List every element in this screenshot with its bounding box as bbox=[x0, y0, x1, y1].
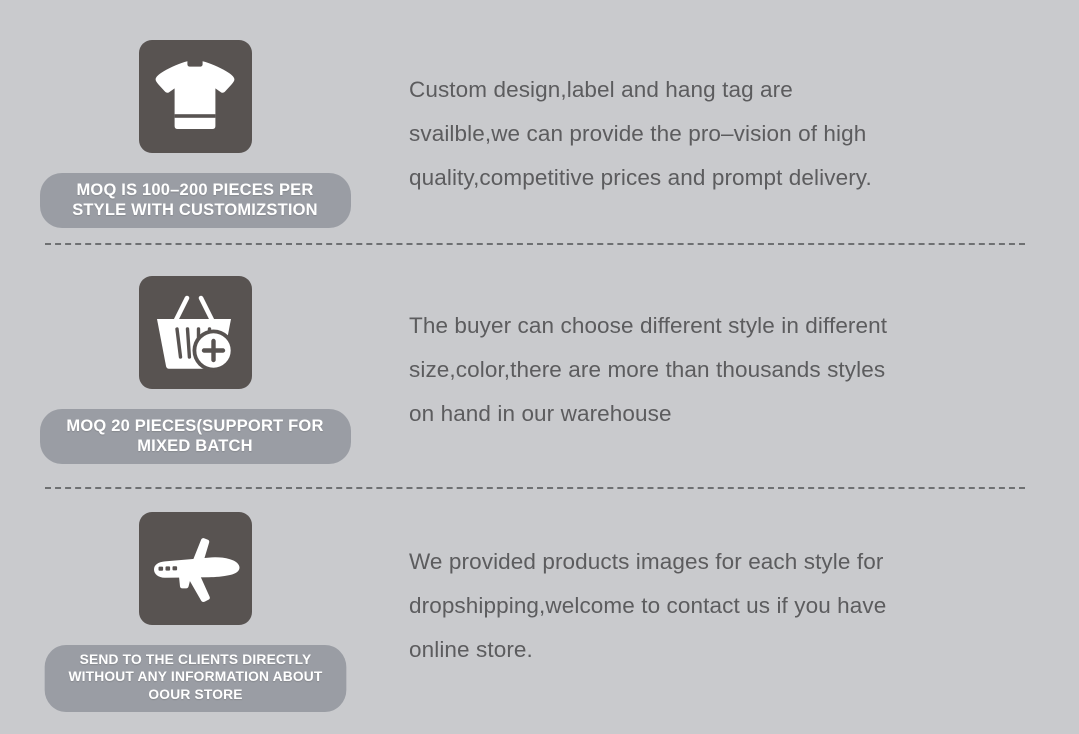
description-line: The buyer can choose different style in … bbox=[409, 304, 984, 348]
badge-line: ANY INFORMATION ABOUT OOUR STORE bbox=[137, 669, 322, 702]
airplane-icon-tile bbox=[139, 512, 252, 625]
feature-description-customization: Custom design,label and hang tag are sva… bbox=[409, 68, 984, 200]
description-line: dropshipping,welcome to contact us if yo… bbox=[409, 584, 984, 628]
description-line: quality,competitive prices and prompt de… bbox=[409, 156, 984, 200]
feature-icon-column: MOQ 20 PIECES(SUPPORT FOR MIXED BATCH bbox=[0, 276, 390, 464]
badge-line: STYLE WITH CUSTOMIZSTION bbox=[72, 201, 318, 219]
feature-text-column: We provided products images for each sty… bbox=[390, 512, 1079, 672]
shopping-basket-plus-icon-tile bbox=[139, 276, 252, 389]
section-divider-1 bbox=[45, 243, 1025, 245]
description-line: on hand in our warehouse bbox=[409, 392, 984, 436]
feature-text-column: Custom design,label and hang tag are sva… bbox=[390, 40, 1079, 200]
section-divider-2 bbox=[45, 487, 1025, 489]
feature-row-customization: MOQ IS 100–200 PIECES PER STYLE WITH CUS… bbox=[0, 40, 1079, 228]
airplane-icon bbox=[149, 534, 241, 604]
feature-text-column: The buyer can choose different style in … bbox=[390, 276, 1079, 436]
description-line: svailble,we can provide the pro–vision o… bbox=[409, 112, 984, 156]
badge-moq-customization: MOQ IS 100–200 PIECES PER STYLE WITH CUS… bbox=[40, 173, 351, 228]
feature-icon-column: SEND TO THE CLIENTS DIRECTLY WITHOUT ANY… bbox=[0, 512, 390, 712]
feature-icon-column: MOQ IS 100–200 PIECES PER STYLE WITH CUS… bbox=[0, 40, 390, 228]
description-line: online store. bbox=[409, 628, 984, 672]
badge-dropshipping-privacy: SEND TO THE CLIENTS DIRECTLY WITHOUT ANY… bbox=[44, 645, 346, 712]
feature-row-dropshipping: SEND TO THE CLIENTS DIRECTLY WITHOUT ANY… bbox=[0, 512, 1079, 712]
service-features-banner: MOQ IS 100–200 PIECES PER STYLE WITH CUS… bbox=[0, 0, 1079, 734]
tshirt-icon bbox=[155, 60, 235, 134]
description-line: We provided products images for each sty… bbox=[409, 540, 984, 584]
description-line: Custom design,label and hang tag are bbox=[409, 68, 984, 112]
shopping-basket-plus-icon bbox=[154, 294, 236, 372]
badge-line: MOQ 20 PIECES(SUPPORT bbox=[66, 417, 283, 435]
feature-description-dropshipping: We provided products images for each sty… bbox=[409, 540, 984, 672]
tshirt-icon-tile bbox=[139, 40, 252, 153]
badge-moq-mixed-batch: MOQ 20 PIECES(SUPPORT FOR MIXED BATCH bbox=[40, 409, 351, 464]
feature-row-mixed-batch: MOQ 20 PIECES(SUPPORT FOR MIXED BATCH Th… bbox=[0, 276, 1079, 464]
badge-line: MOQ IS 100–200 PIECES PER bbox=[76, 181, 313, 199]
description-line: size,color,there are more than thousands… bbox=[409, 348, 984, 392]
feature-description-mixed-batch: The buyer can choose different style in … bbox=[409, 304, 984, 436]
